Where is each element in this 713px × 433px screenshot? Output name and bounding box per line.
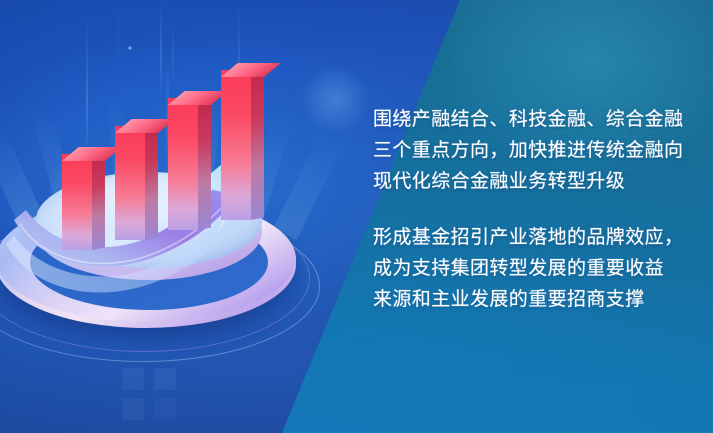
bar-2-side bbox=[145, 123, 158, 240]
bar-3-side bbox=[198, 95, 211, 230]
bar-3-face bbox=[168, 98, 198, 230]
bar-1-face bbox=[62, 154, 92, 250]
paragraph-1-line-3: 现代化综合金融业务转型升级 bbox=[373, 166, 683, 197]
bar-1 bbox=[62, 154, 92, 250]
promotional-banner: 围绕产融结合、科技金融、综合金融 三个重点方向，加快推进传统金融向 现代化综合金… bbox=[0, 0, 713, 433]
bar-4-side bbox=[251, 67, 264, 220]
bar-1-side bbox=[92, 151, 105, 250]
paragraph-2-line-3: 来源和主业发展的重要招商支撑 bbox=[373, 284, 683, 315]
paragraph-1-line-2: 三个重点方向，加快推进传统金融向 bbox=[373, 135, 683, 166]
bar-2 bbox=[115, 126, 145, 240]
bar-4 bbox=[221, 70, 251, 220]
paragraph-1-line-1: 围绕产融结合、科技金融、综合金融 bbox=[373, 104, 683, 135]
paragraph-1: 围绕产融结合、科技金融、综合金融 三个重点方向，加快推进传统金融向 现代化综合金… bbox=[373, 104, 683, 197]
paragraph-2-line-2: 成为支持集团转型发展的重要收益 bbox=[373, 253, 683, 284]
bar-3 bbox=[168, 98, 198, 230]
paragraph-2-line-1: 形成基金招引产业落地的品牌效应， bbox=[373, 222, 683, 253]
paragraph-2: 形成基金招引产业落地的品牌效应， 成为支持集团转型发展的重要收益 来源和主业发展… bbox=[373, 222, 683, 315]
bar-2-face bbox=[115, 126, 145, 240]
bar-4-face bbox=[221, 70, 251, 220]
